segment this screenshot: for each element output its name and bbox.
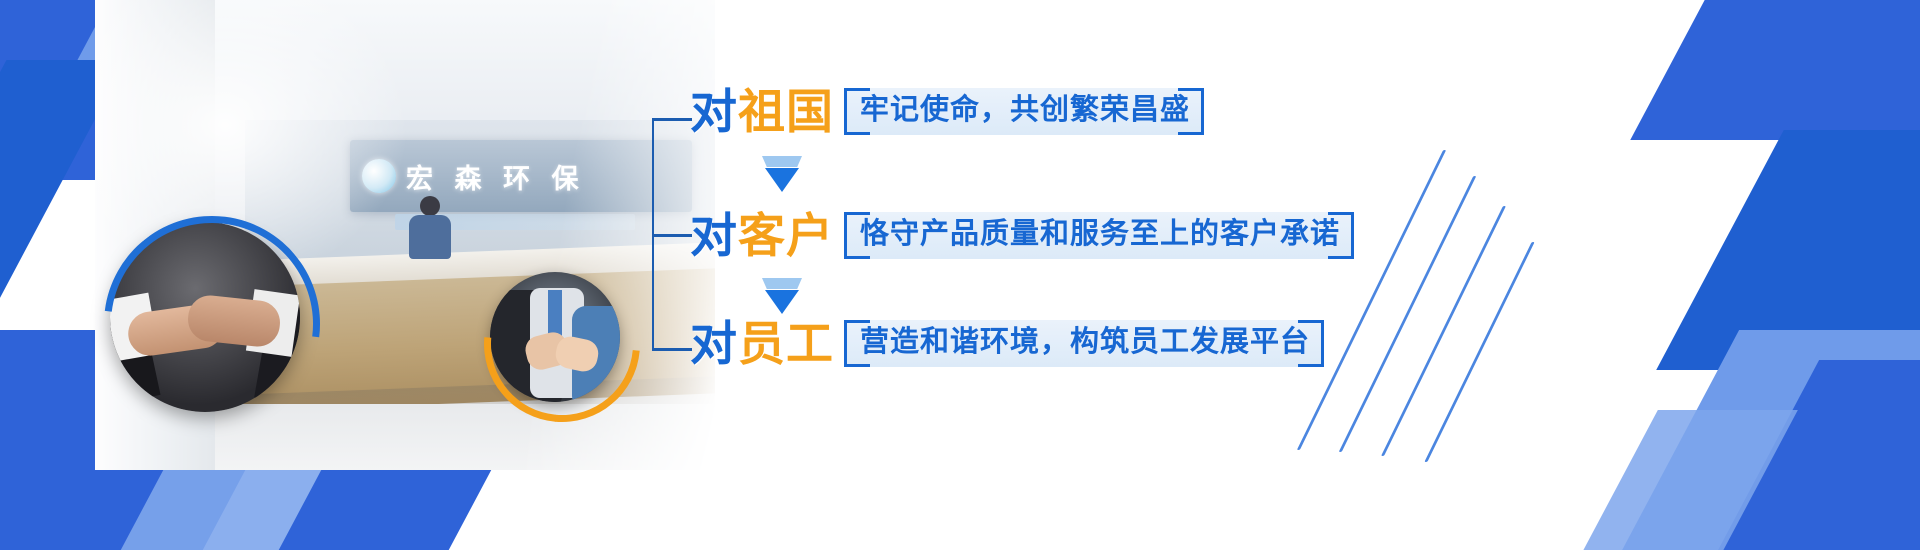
meeting-photo-circle (490, 272, 620, 402)
arrow-top-band (762, 278, 802, 289)
down-arrow-icon-1 (762, 156, 802, 192)
value-prefix-customer: 对 (690, 209, 738, 262)
receptionist-body (409, 215, 451, 259)
value-row-country: 对祖国 牢记使命，共创繁荣昌盛 (690, 88, 1204, 135)
company-values-banner: 宏 森 环 保 (0, 0, 1920, 550)
bracket-tick-2 (652, 234, 692, 237)
decorative-shape-right-light (1601, 330, 1920, 550)
chip-corner (844, 88, 870, 91)
decorative-shape-bottom-right-blue (1681, 360, 1920, 550)
chip-corner (1328, 212, 1354, 215)
company-sign-text: 宏 森 环 保 (406, 157, 586, 196)
value-prefix-employee: 对 (690, 317, 738, 370)
value-highlight-customer: 客户 (738, 209, 834, 262)
arrow-triangle (765, 168, 799, 192)
value-statement-text: 牢记使命，共创繁荣昌盛 (860, 94, 1190, 126)
value-row-employee: 对员工 营造和谐环境，构筑员工发展平台 (690, 320, 1324, 367)
chip-corner (1178, 132, 1204, 135)
chip-corner (1178, 88, 1204, 91)
chip-corner (844, 320, 870, 323)
bracket-tick-3 (652, 348, 692, 351)
handshake-photo-circle (110, 222, 300, 412)
chip-corner (1298, 364, 1324, 367)
value-statement-country: 牢记使命，共创繁荣昌盛 (844, 88, 1204, 135)
value-highlight-country: 祖国 (738, 85, 834, 138)
chip-corner (1298, 320, 1324, 323)
chip-corner (844, 132, 870, 135)
decorative-shape-right-deep-blue (1656, 130, 1920, 370)
arrow-triangle (765, 290, 799, 314)
value-statement-employee: 营造和谐环境，构筑员工发展平台 (844, 320, 1324, 367)
value-statement-customer: 恪守产品质量和服务至上的客户承诺 (844, 212, 1354, 259)
value-statement-text: 恪守产品质量和服务至上的客户承诺 (860, 218, 1340, 250)
bracket-tick-1 (652, 118, 692, 121)
value-lead-country: 对祖国 (690, 88, 834, 135)
arrow-top-band (762, 156, 802, 167)
value-row-customer: 对客户 恪守产品质量和服务至上的客户承诺 (690, 212, 1354, 259)
diagonal-line (1424, 242, 1534, 462)
chip-corner (1328, 256, 1354, 259)
value-statement-text: 营造和谐环境，构筑员工发展平台 (860, 326, 1310, 358)
decorative-shape-top-right-blue (1630, 0, 1920, 140)
chip-corner (844, 364, 870, 367)
value-lead-customer: 对客户 (690, 212, 834, 259)
value-prefix-country: 对 (690, 85, 738, 138)
receptionist-head (420, 196, 440, 216)
chip-corner (844, 256, 870, 259)
values-content: 对祖国 牢记使命，共创繁荣昌盛 对客户 恪 (640, 0, 1400, 550)
down-arrow-icon-2 (762, 278, 802, 314)
value-lead-employee: 对员工 (690, 320, 834, 367)
chip-corner (844, 212, 870, 215)
value-highlight-employee: 员工 (738, 317, 834, 370)
